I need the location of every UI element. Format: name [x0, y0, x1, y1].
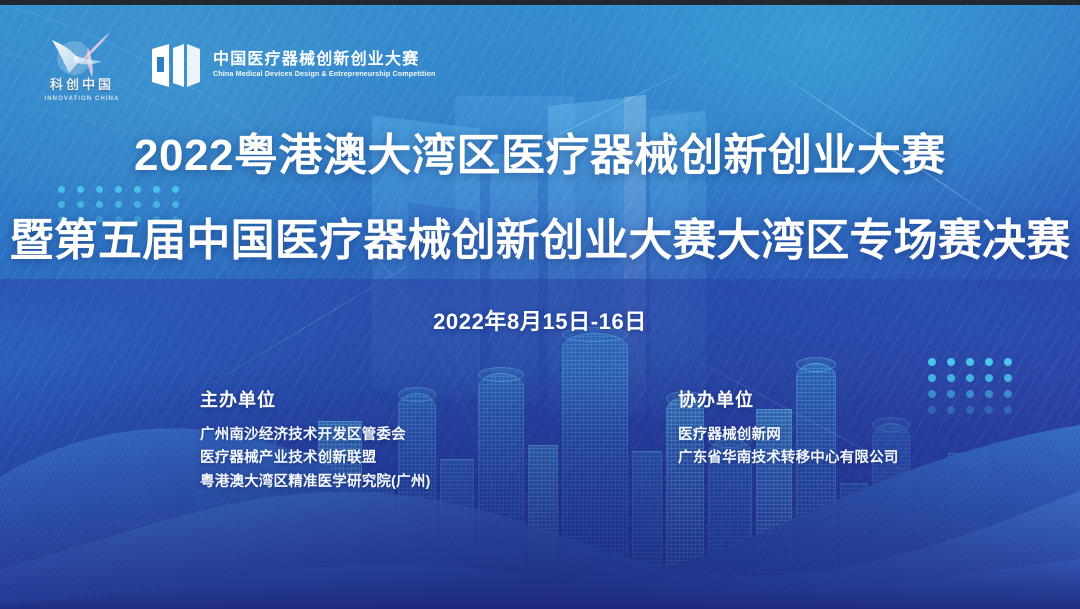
host-organizer-heading: 主办单位 — [200, 391, 431, 409]
event-date: 2022年8月15日-16日 — [0, 311, 1080, 333]
innovation-china-logo-en: INNOVATION CHINA — [36, 96, 128, 102]
logo-row: 科创中国 INNOVATION CHINA 中国医疗器械创新创业大赛 China… — [36, 28, 445, 102]
top-edge-strip — [0, 0, 1080, 5]
coorganizer-item: 医疗器械创新网 — [678, 424, 899, 447]
host-organizer-item: 医疗器械产业技术创新联盟 — [200, 447, 431, 470]
open-door-mark — [150, 42, 202, 89]
competition-logo-en: China Medical Devices Design & Entrepren… — [213, 69, 436, 79]
title-line-2: 暨第五届中国医疗器械创新创业大赛大湾区专场赛决赛 — [0, 219, 1080, 263]
coorganizer-item: 广东省华南技术转移中心有限公司 — [678, 447, 899, 470]
event-banner: 科创中国 INNOVATION CHINA 中国医疗器械创新创业大赛 China… — [0, 0, 1080, 609]
competition-logo: 中国医疗器械创新创业大赛 China Medical Devices Desig… — [150, 42, 445, 89]
innovation-china-logo-cn: 科创中国 — [36, 78, 128, 91]
host-organizer-item: 广州南沙经济技术开发区管委会 — [200, 424, 431, 447]
competition-logo-cn: 中国医疗器械创新创业大赛 — [213, 51, 445, 69]
innovation-china-bird-mark — [44, 28, 120, 78]
dot-grid-right — [928, 358, 1023, 422]
innovation-china-logo: 科创中国 INNOVATION CHINA — [36, 28, 128, 102]
host-organizer-item: 粤港澳大湾区精准医学研究院(广州) — [200, 471, 431, 494]
coorganizer-heading: 协办单位 — [678, 391, 899, 409]
host-organizer-group: 主办单位 广州南沙经济技术开发区管委会 医疗器械产业技术创新联盟 粤港澳大湾区精… — [200, 391, 431, 494]
title-line-1: 2022粤港澳大湾区医疗器械创新创业大赛 — [0, 134, 1080, 178]
coorganizer-group: 协办单位 医疗器械创新网 广东省华南技术转移中心有限公司 — [678, 391, 899, 471]
